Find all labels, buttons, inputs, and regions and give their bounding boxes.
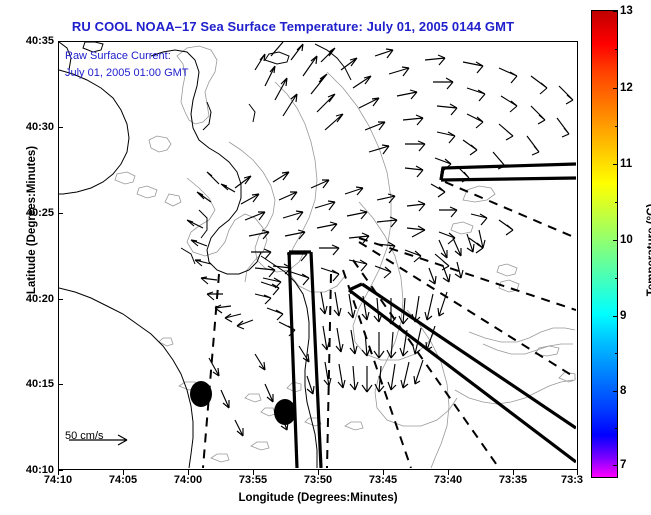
colorbar-minor-tick — [615, 428, 618, 429]
colorbar-tick — [613, 465, 618, 466]
colorbar-tick — [613, 11, 618, 12]
radar-site-markers[interactable] — [190, 381, 296, 425]
x-axis-title: Longitude (Degrees:Minutes) — [58, 492, 578, 504]
colorbar-title: Temperature (°C) — [646, 170, 651, 330]
colorbar-minor-tick — [615, 278, 618, 279]
colorbar-tick-label: 8 — [620, 385, 626, 397]
vector-scale-bar: 50 cm/s — [65, 430, 104, 442]
y-tick — [58, 470, 63, 471]
x-tick-label: 73:55 — [239, 474, 267, 486]
x-tick-label: 73:35 — [499, 474, 527, 486]
radar-site-marker — [274, 399, 296, 425]
current-annotation-line1: Raw Surface Current: — [65, 50, 171, 62]
bathymetry-contours — [115, 46, 575, 468]
colorbar-minor-tick — [615, 126, 618, 127]
y-tick — [58, 299, 63, 300]
scale-bar-arrow-icon — [65, 430, 145, 450]
y-tick — [58, 213, 63, 214]
colorbar-tick-label: 7 — [620, 459, 626, 471]
colorbar-tick — [613, 316, 618, 317]
sst-figure: RU COOL NOAA–17 Sea Surface Temperature:… — [0, 0, 651, 515]
y-tick-label: 40:10 — [14, 464, 54, 476]
y-tick — [58, 384, 63, 385]
colorbar-minor-tick — [615, 49, 618, 50]
radial-beam-lines — [203, 182, 576, 468]
colorbar-minor-tick — [615, 202, 618, 203]
radar-coverage-wedges — [289, 164, 576, 468]
colorbar-tick — [613, 391, 618, 392]
colorbar-tick-label: 10 — [620, 234, 633, 246]
colorbar-tick-label: 12 — [620, 82, 633, 94]
colorbar-tick — [613, 164, 618, 165]
map-canvas — [59, 42, 576, 468]
colorbar[interactable] — [591, 10, 618, 478]
colorbar-minor-tick — [615, 353, 618, 354]
y-tick-label: 40:35 — [14, 35, 54, 47]
colorbar-tick-label: 11 — [620, 158, 632, 170]
radar-site-marker — [190, 381, 212, 407]
plot-area[interactable]: Raw Surface Current: July 01, 2005 01:00… — [58, 41, 578, 470]
y-tick-label: 40:15 — [14, 378, 54, 390]
colorbar-tick-label: 9 — [620, 310, 626, 322]
current-annotation-line2: July 01, 2005 01:00 GMT — [65, 67, 189, 79]
y-axis-title: Latitude (Degrees:Minutes) — [26, 120, 38, 320]
colorbar-tick — [613, 88, 618, 89]
colorbar-tick-label: 13 — [620, 5, 633, 17]
x-tick-label: 73:45 — [369, 474, 397, 486]
y-tick — [58, 127, 63, 128]
x-tick-label: 73:40 — [434, 474, 462, 486]
y-tick — [58, 41, 63, 42]
x-tick-label: 74:00 — [174, 474, 202, 486]
x-tick-label: 74:05 — [109, 474, 137, 486]
chart-title: RU COOL NOAA–17 Sea Surface Temperature:… — [0, 19, 586, 34]
surface-current-vectors — [187, 42, 573, 436]
colorbar-tick — [613, 240, 618, 241]
x-tick-label: 73:50 — [304, 474, 332, 486]
x-tick-label: 73:3 — [561, 474, 583, 486]
